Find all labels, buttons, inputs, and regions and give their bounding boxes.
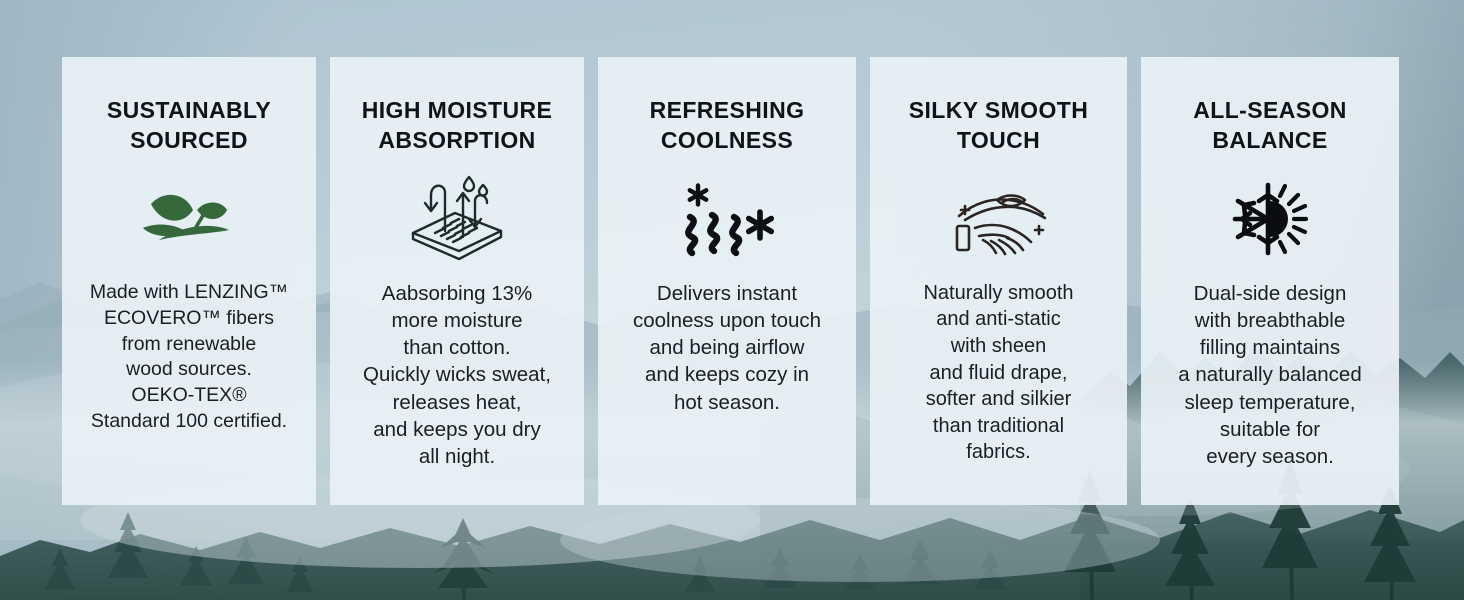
card-description: Delivers instant coolness upon touch and… <box>633 280 821 416</box>
feature-card-high-moisture-absorption: HIGH MOISTURE ABSORPTION Aabsorbi <box>330 57 584 505</box>
feature-card-silky-smooth-touch: SILKY SMOOTH TOUCH <box>870 57 1127 505</box>
feature-card-all-season-balance: ALL-SEASON BALANCE <box>1141 57 1399 505</box>
feature-card-refreshing-coolness: REFRESHING COOLNESS <box>598 57 856 505</box>
moisture-wicking-fabric-icon <box>405 164 509 274</box>
card-title: SILKY SMOOTH TOUCH <box>909 95 1088 156</box>
feature-card-row: SUSTAINABLY SOURCED Made with LENZING™ E… <box>62 57 1406 505</box>
hand-silk-fabric-sparkle-icon <box>945 164 1053 274</box>
card-description: Aabsorbing 13% more moisture than cotton… <box>363 280 551 471</box>
card-title: HIGH MOISTURE ABSORPTION <box>362 95 552 156</box>
card-title: ALL-SEASON BALANCE <box>1193 95 1347 156</box>
cooling-airflow-snowflake-icon <box>674 164 780 274</box>
card-description: Made with LENZING™ ECOVERO™ fibers from … <box>90 280 288 436</box>
card-description: Dual-side design with breabthable fillin… <box>1178 280 1362 471</box>
card-title: SUSTAINABLY SOURCED <box>107 95 271 156</box>
leaf-sprig-icon <box>141 164 237 274</box>
feature-card-sustainably-sourced: SUSTAINABLY SOURCED Made with LENZING™ E… <box>62 57 316 505</box>
snowflake-sun-icon <box>1228 164 1312 274</box>
card-description: Naturally smooth and anti-static with sh… <box>923 280 1073 466</box>
card-title: REFRESHING COOLNESS <box>650 95 805 156</box>
